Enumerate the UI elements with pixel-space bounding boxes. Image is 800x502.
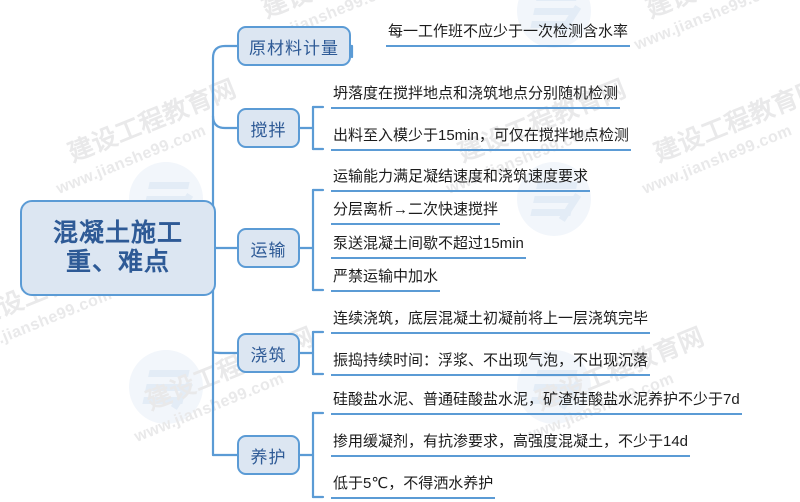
branch-node-curing[interactable]: 养护 xyxy=(237,435,300,475)
branch-node-mixing[interactable]: 搅拌 xyxy=(237,108,300,148)
leaf-item[interactable]: 运输能力满足凝结速度和浇筑速度要求 xyxy=(331,167,590,192)
branch-label: 浇筑 xyxy=(251,341,287,366)
branch-label: 原材料计量 xyxy=(249,34,339,59)
leaf-item[interactable]: 分层离析→二次快速搅拌 xyxy=(331,200,500,225)
branch-label: 养护 xyxy=(251,443,287,468)
branch-node-transport[interactable]: 运输 xyxy=(237,228,300,268)
leaf-item[interactable]: 每一工作班不应少于一次检测含水率 xyxy=(386,22,630,47)
branch-label: 搅拌 xyxy=(251,116,287,141)
leaf-item[interactable]: 严禁运输中加水 xyxy=(331,267,440,292)
leaf-item[interactable]: 掺用缓凝剂，有抗渗要求，高强度混凝土，不少于14d xyxy=(331,432,690,457)
branch-node-pouring[interactable]: 浇筑 xyxy=(237,333,300,373)
elbow-branch-0 xyxy=(213,46,237,58)
root-node[interactable]: 混凝土施工 重、难点 xyxy=(20,200,216,296)
branch-node-raw-material-metering[interactable]: 原材料计量 xyxy=(237,26,351,66)
leaf-item[interactable]: 振捣持续时间：浮浆、不出现气泡，不出现沉落 xyxy=(331,351,650,376)
branch-label: 运输 xyxy=(251,236,287,261)
leaf-item[interactable]: 连续浇筑，底层混凝土初凝前将上一层浇筑完毕 xyxy=(331,309,650,334)
elbow-branch-1 xyxy=(213,116,237,128)
leaf-item[interactable]: 出料至入模少于15min，可仅在搅拌地点检测 xyxy=(331,126,631,151)
root-title-line-1: 混凝土施工 xyxy=(53,219,183,249)
elbow-branch-3 xyxy=(213,352,237,353)
leaf-item[interactable]: 硅酸盐水泥、普通硅酸盐水泥，矿渣硅酸盐水泥养护不少于7d xyxy=(331,390,742,415)
leaf-item[interactable]: 坍落度在搅拌地点和浇筑地点分别随机检测 xyxy=(331,84,620,109)
leafwire-0 xyxy=(351,46,352,57)
mind-map-canvas: 建设工程教育网 www.jianshe99.com 建设工程教育网 www.ji… xyxy=(0,0,800,502)
root-title-line-2: 重、难点 xyxy=(66,248,170,278)
leaf-item[interactable]: 低于5℃，不得洒水养护 xyxy=(331,474,495,499)
leaf-item[interactable]: 泵送混凝土间歇不超过15min xyxy=(331,234,526,259)
